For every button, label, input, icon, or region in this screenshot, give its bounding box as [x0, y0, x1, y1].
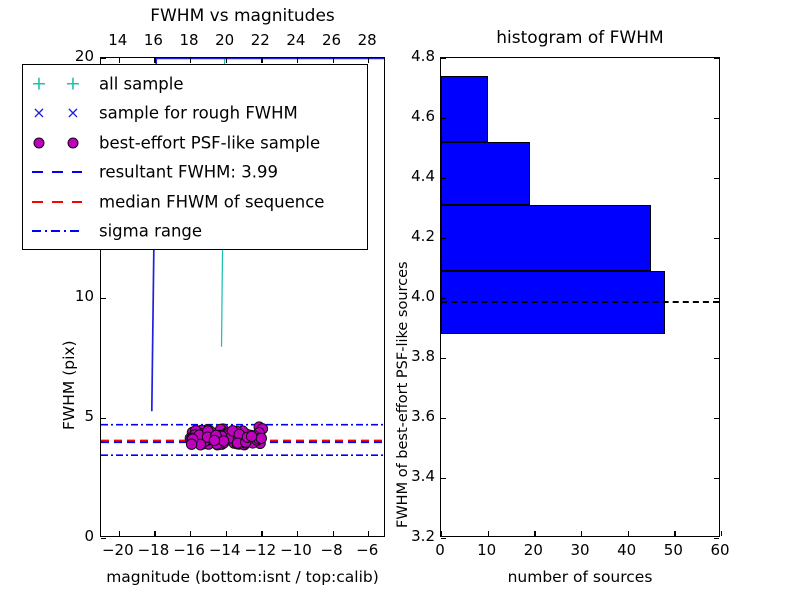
psf-like-marker: [209, 435, 219, 445]
histogram-x-ticklabel: 20: [517, 543, 549, 558]
psf-like-marker: [195, 440, 205, 450]
psf-like-marker: [251, 432, 261, 442]
psf-like-marker: [247, 435, 257, 445]
psf-like-marker: [215, 430, 225, 440]
left-bottom-ticklabel: −18: [137, 543, 169, 558]
psf-like-marker: [202, 432, 212, 442]
histogram-y-ticklabel: 4.4: [397, 169, 435, 184]
psf-like-marker: [238, 436, 248, 446]
psf-like-marker: [203, 429, 213, 439]
psf-like-marker: [233, 433, 243, 443]
psf-like-marker: [188, 434, 198, 444]
histogram-bar: [441, 205, 651, 271]
psf-like-marker: [228, 435, 238, 445]
psf-like-marker: [211, 429, 221, 439]
left-top-tick: [154, 58, 155, 63]
left-top-tick: [368, 58, 369, 63]
left-y-ticklabel: 20: [70, 49, 94, 64]
psf-like-marker: [193, 430, 203, 440]
psf-like-marker: [215, 431, 225, 441]
left-top-tick: [190, 58, 191, 63]
histogram-y-tick: [441, 418, 446, 419]
left-plot-xlabel: magnitude (bottom:isnt / top:calib): [100, 570, 385, 586]
psf-like-marker: [249, 431, 259, 441]
psf-like-marker: [248, 434, 258, 444]
left-y-ticklabel: 10: [70, 289, 94, 304]
psf-like-marker: [241, 437, 251, 447]
histogram-y-tick-right: [714, 58, 719, 59]
legend-entry-label: all sample: [99, 74, 184, 93]
legend-entry[interactable]: ++all sample: [23, 69, 367, 98]
left-bottom-tick: [190, 531, 191, 536]
psf-like-marker: [200, 431, 210, 441]
psf-like-marker: [253, 430, 263, 440]
histogram-bar: [441, 142, 530, 205]
psf-like-marker: [254, 428, 264, 438]
psf-like-marker: [218, 432, 228, 442]
psf-like-marker: [221, 431, 231, 441]
left-bottom-ticklabel: −16: [173, 543, 205, 558]
left-top-ticklabel: 20: [215, 33, 235, 48]
histogram-y-ticklabel: 4.2: [397, 229, 435, 244]
psf-like-marker: [234, 429, 244, 439]
left-bottom-ticklabel: −20: [102, 543, 134, 558]
legend-line-dashed-icon: [29, 195, 85, 209]
histogram-y-tick: [441, 178, 446, 179]
psf-like-marker: [253, 429, 263, 439]
psf-like-marker: [199, 436, 209, 446]
histogram-frame: [440, 57, 720, 537]
psf-like-marker: [194, 430, 204, 440]
psf-like-marker: [232, 439, 242, 449]
psf-like-marker: [257, 424, 267, 434]
histogram-y-tick-right: [714, 538, 719, 539]
psf-like-marker: [215, 424, 225, 434]
psf-like-marker: [213, 434, 223, 444]
psf-like-marker: [199, 438, 209, 448]
psf-like-marker: [187, 427, 197, 437]
left-bottom-tick: [368, 531, 369, 536]
psf-like-marker: [202, 434, 212, 444]
psf-like-marker: [238, 432, 248, 442]
psf-like-marker: [238, 426, 248, 436]
histogram-x-ticklabel: 30: [564, 543, 596, 558]
psf-like-marker: [190, 432, 200, 442]
legend-entry-label: sigma range: [99, 222, 202, 241]
legend-entry[interactable]: best-effort PSF-like sample: [23, 128, 367, 157]
psf-like-marker: [256, 433, 266, 443]
histogram-y-tick-right: [714, 358, 719, 359]
legend-marker-plus-icon: +: [31, 74, 47, 93]
psf-like-marker: [217, 439, 227, 449]
left-top-ticklabel: 24: [286, 33, 306, 48]
left-bottom-ticklabel: −14: [209, 543, 241, 558]
psf-like-marker: [212, 435, 222, 445]
psf-like-marker: [242, 434, 252, 444]
histogram-xlabel: number of sources: [440, 570, 720, 586]
psf-like-marker: [248, 436, 258, 446]
left-top-ticklabel: 16: [143, 33, 163, 48]
psf-like-marker: [252, 435, 262, 445]
psf-like-marker: [203, 426, 213, 436]
psf-like-marker: [194, 427, 204, 437]
legend-marker-plus-icon: +: [65, 74, 81, 93]
left-bottom-ticklabel: −6: [351, 543, 383, 558]
histogram-x-ticklabel: 0: [424, 543, 456, 558]
histogram-x-ticklabel: 40: [611, 543, 643, 558]
histogram-y-tick-right: [714, 478, 719, 479]
legend-marker-circle-icon: [34, 137, 45, 148]
histogram-y-tick: [441, 478, 446, 479]
psf-like-marker: [208, 430, 218, 440]
psf-like-marker: [212, 439, 222, 449]
psf-like-marker: [187, 436, 197, 446]
psf-like-marker: [253, 433, 263, 443]
psf-like-marker: [242, 432, 252, 442]
legend-line-dashdot-icon: [29, 224, 85, 238]
psf-like-marker: [231, 436, 241, 446]
psf-like-marker: [196, 430, 206, 440]
psf-like-marker: [233, 430, 243, 440]
left-top-tick: [261, 58, 262, 63]
histogram-y-tick-right: [714, 298, 719, 299]
psf-like-marker: [215, 439, 225, 449]
psf-like-marker: [232, 438, 242, 448]
psf-like-marker: [237, 434, 247, 444]
psf-like-marker: [197, 432, 207, 442]
histogram-y-tick: [441, 298, 446, 299]
left-bottom-ticklabel: −8: [316, 543, 348, 558]
psf-like-marker: [225, 433, 235, 443]
psf-like-marker: [195, 428, 205, 438]
left-top-tick: [119, 58, 120, 63]
psf-like-marker: [196, 425, 206, 435]
histogram-y-tick: [441, 538, 446, 539]
legend-entry-label: median FHWM of sequence: [99, 192, 324, 211]
legend-marker-circle-icon: [68, 137, 79, 148]
psf-like-marker: [185, 433, 195, 443]
psf-like-marker: [211, 433, 221, 443]
left-top-ticklabel: 22: [250, 33, 270, 48]
psf-like-marker: [240, 438, 250, 448]
psf-like-marker: [187, 433, 197, 443]
histogram-x-tick: [581, 531, 582, 536]
psf-like-marker: [212, 439, 222, 449]
psf-like-marker: [212, 438, 222, 448]
histogram-x-tick: [674, 531, 675, 536]
psf-like-marker: [190, 430, 200, 440]
psf-like-marker: [191, 431, 201, 441]
psf-like-marker: [248, 438, 258, 448]
psf-like-marker: [186, 435, 196, 445]
psf-like-marker: [221, 429, 231, 439]
psf-like-marker: [198, 432, 208, 442]
psf-like-marker: [232, 436, 242, 446]
left-top-ticklabel: 26: [322, 33, 342, 48]
histogram-y-tick-right: [714, 118, 719, 119]
psf-like-marker: [205, 426, 215, 436]
left-top-ticklabel: 28: [357, 33, 377, 48]
psf-like-marker: [234, 432, 244, 442]
psf-like-marker: [188, 428, 198, 438]
left-y-tick: [101, 418, 106, 419]
psf-like-marker: [221, 431, 231, 441]
psf-like-marker: [246, 430, 256, 440]
legend-box[interactable]: ++all sample××sample for rough FWHMbest-…: [22, 64, 368, 250]
legend-line-dashed-icon: [29, 165, 85, 179]
histogram-y-tick: [441, 58, 446, 59]
psf-like-marker: [248, 436, 258, 446]
psf-like-marker: [247, 437, 257, 447]
legend-entry-label: sample for rough FWHM: [99, 104, 298, 123]
psf-like-marker: [197, 431, 207, 441]
left-top-tick: [226, 58, 227, 63]
histogram-y-ticklabel: 4.8: [397, 49, 435, 64]
left-y-tick: [101, 298, 106, 299]
psf-like-marker: [253, 433, 263, 443]
legend-entry[interactable]: ××sample for rough FWHM: [23, 99, 367, 128]
psf-like-marker: [241, 437, 251, 447]
left-bottom-tick: [333, 531, 334, 536]
psf-like-marker: [229, 438, 239, 448]
psf-like-marker: [219, 438, 229, 448]
legend-marker-cross-icon: ×: [32, 105, 45, 121]
psf-like-marker: [222, 428, 232, 438]
psf-like-marker: [204, 428, 214, 438]
psf-like-marker: [234, 439, 244, 449]
psf-like-marker: [218, 433, 228, 443]
histogram-x-tick: [488, 531, 489, 536]
psf-like-marker: [237, 435, 247, 445]
psf-like-marker: [203, 439, 213, 449]
psf-like-marker: [186, 439, 196, 449]
psf-like-marker: [211, 430, 221, 440]
histogram-y-tick-right: [714, 178, 719, 179]
left-bottom-tick: [119, 531, 120, 536]
figure-canvas: FWHM vs magnitudes magnitude (bottom:isn…: [0, 0, 800, 600]
psf-like-marker: [220, 433, 230, 443]
histogram-y-tick: [441, 238, 446, 239]
histogram-y-tick: [441, 118, 446, 119]
legend-marker-cross-icon: ×: [66, 105, 79, 121]
histogram-y-ticklabel: 4.0: [397, 289, 435, 304]
left-bottom-tick: [261, 531, 262, 536]
psf-like-marker: [219, 436, 229, 446]
histogram-y-ticklabel: 3.4: [397, 469, 435, 484]
psf-like-marker: [232, 426, 242, 436]
psf-like-marker: [239, 440, 249, 450]
psf-like-marker: [243, 433, 253, 443]
left-bottom-ticklabel: −10: [280, 543, 312, 558]
psf-like-marker: [251, 435, 261, 445]
left-bottom-ticklabel: −12: [244, 543, 276, 558]
psf-like-marker: [232, 432, 242, 442]
left-y-tick: [101, 58, 106, 59]
psf-like-marker: [207, 432, 217, 442]
psf-like-marker: [242, 429, 252, 439]
psf-like-marker: [204, 433, 214, 443]
psf-like-marker: [239, 435, 249, 445]
psf-like-marker: [255, 438, 265, 448]
histogram-title: histogram of FWHM: [440, 30, 720, 47]
histogram-data-layer: [441, 58, 719, 536]
histogram-y-ticklabel: 4.6: [397, 109, 435, 124]
left-y-ticklabel: 5: [70, 409, 94, 424]
psf-like-marker: [252, 432, 262, 442]
psf-like-marker: [214, 433, 224, 443]
psf-like-marker: [227, 426, 237, 436]
legend-entry[interactable]: median FHWM of sequence: [23, 187, 367, 216]
psf-like-marker: [205, 430, 215, 440]
psf-like-marker: [190, 434, 200, 444]
psf-like-marker: [191, 432, 201, 442]
psf-like-marker: [234, 434, 244, 444]
histogram-y-ticklabel: 3.2: [397, 529, 435, 544]
psf-like-marker: [212, 440, 222, 450]
histogram-x-tick: [628, 531, 629, 536]
histogram-x-tick: [441, 531, 442, 536]
legend-entry[interactable]: resultant FWHM: 3.99: [23, 158, 367, 187]
psf-like-marker: [217, 431, 227, 441]
histogram-x-ticklabel: 60: [704, 543, 736, 558]
psf-like-marker: [254, 422, 264, 432]
left-bottom-tick: [154, 531, 155, 536]
left-top-tick: [297, 58, 298, 63]
psf-like-marker: [203, 428, 213, 438]
histogram-x-tick: [534, 531, 535, 536]
left-top-ticklabel: 18: [179, 33, 199, 48]
left-top-ticklabel: 14: [108, 33, 128, 48]
psf-like-marker: [220, 434, 230, 444]
histogram-x-ticklabel: 10: [471, 543, 503, 558]
psf-like-marker: [246, 431, 256, 441]
left-plot-title: FWHM vs magnitudes: [100, 8, 385, 25]
histogram-y-tick-right: [714, 418, 719, 419]
left-bottom-tick: [226, 531, 227, 536]
left-y-tick: [101, 538, 106, 539]
histogram-bar: [441, 271, 665, 334]
legend-entry-label: best-effort PSF-like sample: [99, 133, 320, 152]
psf-like-marker: [240, 431, 250, 441]
histogram-bar: [441, 76, 488, 142]
psf-like-marker: [237, 433, 247, 443]
histogram-y-tick: [441, 358, 446, 359]
psf-like-marker: [202, 435, 212, 445]
psf-like-marker: [195, 434, 205, 444]
psf-like-marker: [214, 434, 224, 444]
histogram-y-ticklabel: 3.6: [397, 409, 435, 424]
legend-entry[interactable]: sigma range: [23, 217, 367, 246]
histogram-x-tick: [721, 531, 722, 536]
left-y-ticklabel: 0: [70, 529, 94, 544]
histogram-x-ticklabel: 50: [657, 543, 689, 558]
legend-entry-label: resultant FWHM: 3.99: [99, 163, 278, 182]
psf-like-marker: [218, 424, 228, 434]
psf-like-marker: [239, 439, 249, 449]
psf-like-marker: [242, 434, 252, 444]
left-top-tick: [333, 58, 334, 63]
histogram-median-line: [441, 301, 719, 303]
psf-like-marker: [219, 431, 229, 441]
psf-like-marker: [202, 425, 212, 435]
left-bottom-tick: [297, 531, 298, 536]
psf-like-marker: [191, 426, 201, 436]
histogram-y-tick-right: [714, 238, 719, 239]
histogram-y-ticklabel: 3.8: [397, 349, 435, 364]
psf-like-marker: [195, 439, 205, 449]
psf-like-marker: [254, 426, 264, 436]
